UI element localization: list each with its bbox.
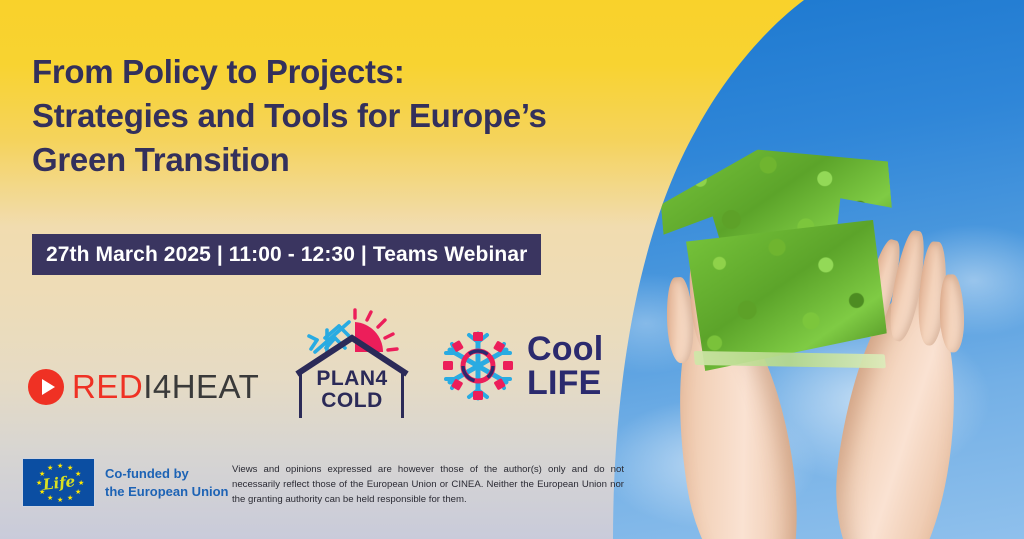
logo-plan4cold-text: PLAN4 COLD <box>299 368 405 412</box>
logo-redi4heat[interactable]: REDI4HEAT <box>28 368 259 406</box>
logo-redi4heat-text-primary: RED <box>72 368 143 405</box>
funding-disclaimer: Views and opinions expressed are however… <box>232 462 624 507</box>
page-title: From Policy to Projects: Strategies and … <box>32 50 722 182</box>
logo-plan4cold-line-1: PLAN4 <box>299 368 405 390</box>
play-button-icon <box>28 369 64 405</box>
webinar-promo-banner: From Policy to Projects: Strategies and … <box>0 0 1024 539</box>
eu-funding-caption: Co-funded by the European Union <box>105 465 229 500</box>
logo-plan4cold[interactable]: PLAN4 COLD <box>293 308 411 416</box>
snowflake-icon <box>440 328 516 404</box>
logo-coollife[interactable]: Cool LIFE <box>440 328 603 404</box>
eu-life-wordmark: Life <box>41 472 75 494</box>
moss-house-body <box>682 219 889 372</box>
logo-coollife-line-1: Cool <box>527 332 603 366</box>
event-date-banner: 27th March 2025 | 11:00 - 12:30 | Teams … <box>32 234 541 275</box>
logo-coollife-line-2: LIFE <box>527 366 603 400</box>
logo-redi4heat-text-secondary: I4HEAT <box>143 368 259 405</box>
logo-coollife-text: Cool LIFE <box>527 332 603 400</box>
eu-funding-block: ★ ★ ★ ★ ★ ★ ★ ★ ★ ★ ★ ★ Life Co-funded b… <box>22 458 229 507</box>
logo-plan4cold-line-2: COLD <box>299 390 405 412</box>
partner-logo-row: REDI4HEAT <box>0 300 625 430</box>
eu-flag-icon: ★ ★ ★ ★ ★ ★ ★ ★ ★ ★ ★ ★ Life <box>22 458 95 507</box>
